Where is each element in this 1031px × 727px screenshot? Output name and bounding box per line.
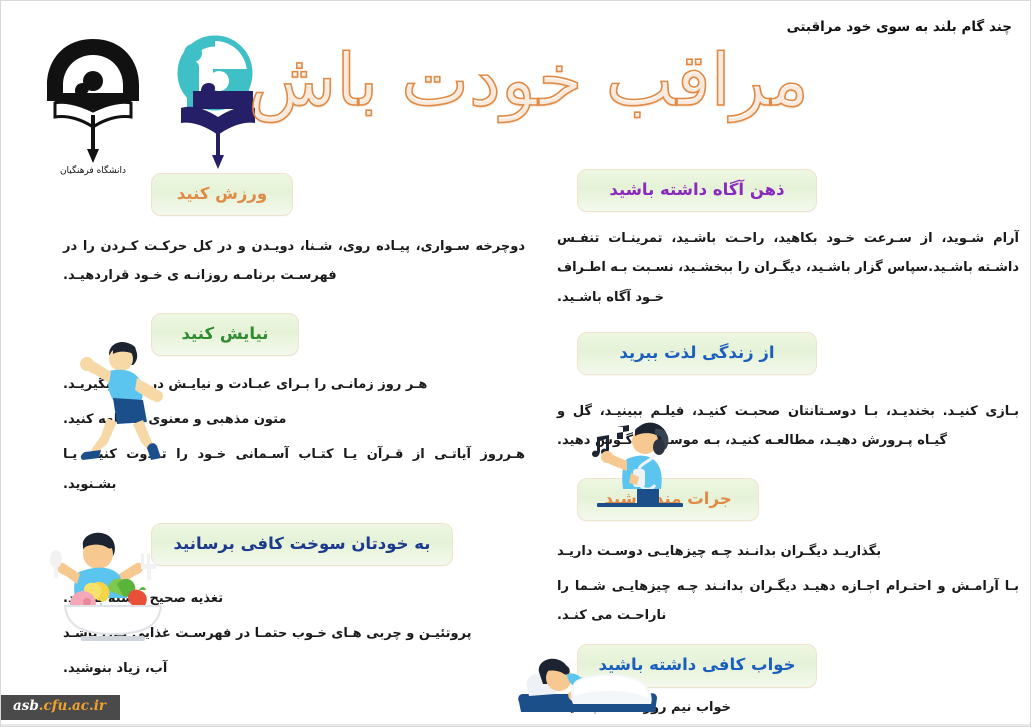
listening-music-illustration xyxy=(579,413,701,518)
footer-url-suffix: .cfu.ac.ir xyxy=(39,698,106,714)
running-person-illustration xyxy=(51,326,201,476)
footer-url-prefix: asb xyxy=(13,698,39,714)
section-mindfulness: ذهن آگاه داشته باشید آرام شـوید، از سـرع… xyxy=(557,169,1019,312)
healthy-eating-illustration xyxy=(23,528,188,653)
bottom-divider xyxy=(1,724,1030,726)
farhangian-university-logo: دانشگاه فرهنگیان xyxy=(33,31,153,181)
poster-canvas: چند گام بلند به سوی خود مراقبتی دانشگاه … xyxy=(0,0,1031,727)
page-title: مراقب خودت باش xyxy=(269,35,809,125)
section-heading-label: از زندگی لذت ببرید xyxy=(596,344,798,362)
body-paragraph: بـا آرامـش و احتـرام اجـازه دهیـد دیگـرا… xyxy=(557,572,1019,631)
section-heading-label: به خودتان سوخت کافی برسانید xyxy=(170,535,434,553)
section-body-be-assertive: بگذاریـد دیگـران بدانـند چـه چیزهایـی دو… xyxy=(557,537,1019,631)
section-heading-mindfulness: ذهن آگاه داشته باشید xyxy=(577,169,817,212)
section-body-exercise: دوچرخه سـواری، پیـاده روی، شـنا، دویـدن … xyxy=(63,232,525,291)
header-title: چند گام بلند به سوی خود مراقبتی xyxy=(787,19,1012,35)
body-paragraph: آب، زیاد بنوشید. xyxy=(63,654,525,683)
body-paragraph: بگذاریـد دیگـران بدانـند چـه چیزهایـی دو… xyxy=(557,537,1019,566)
section-heading-nutrition: به خودتان سوخت کافی برسانید xyxy=(151,523,453,566)
section-exercise: ورزش کنید دوچرخه سـواری، پیـاده روی، شـن… xyxy=(63,173,525,291)
section-heading-enjoy-life: از زندگی لذت ببرید xyxy=(577,332,817,375)
body-paragraph: دوچرخه سـواری، پیـاده روی، شـنا، دویـدن … xyxy=(63,232,525,291)
body-paragraph: آرام شـوید، از سـرعت خـود بکاهید، راحـت … xyxy=(557,224,1019,312)
section-body-mindfulness: آرام شـوید، از سـرعت خـود بکاهید، راحـت … xyxy=(557,224,1019,312)
footer-url[interactable]: asb.cfu.ac.ir xyxy=(1,695,120,720)
section-heading-exercise: ورزش کنید xyxy=(151,173,293,216)
section-heading-label: ورزش کنید xyxy=(170,185,274,203)
sleeping-person-illustration xyxy=(513,646,663,724)
section-heading-label: ذهن آگاه داشته باشید xyxy=(596,181,798,199)
